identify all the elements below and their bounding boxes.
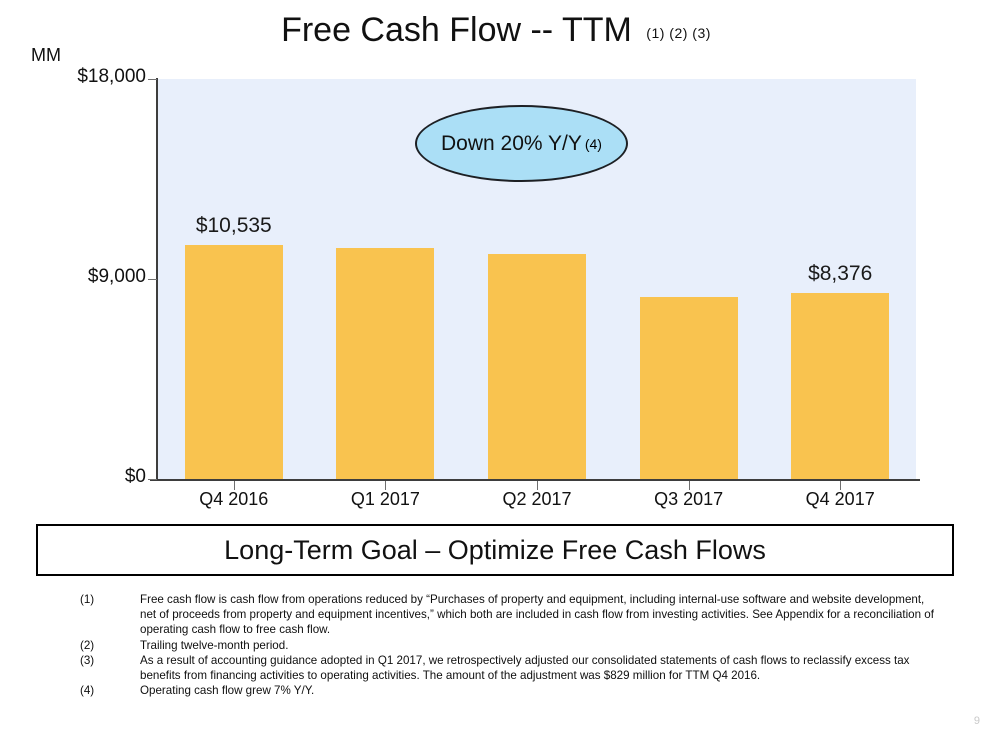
footnote-item: (3)As a result of accounting guidance ad… xyxy=(80,653,940,683)
x-axis-line xyxy=(150,479,920,481)
y-axis-tick-label: $9,000 xyxy=(26,266,146,288)
y-axis-tick-label: $0 xyxy=(26,466,146,488)
footnote-marker: (1) xyxy=(80,592,140,607)
bar xyxy=(336,248,434,479)
bar xyxy=(488,254,586,479)
footnote-item: (1)Free cash flow is cash flow from oper… xyxy=(80,592,940,638)
y-axis-tick xyxy=(148,79,157,80)
bar-value-label: $10,535 xyxy=(154,214,314,238)
callout-superscript: (4) xyxy=(585,136,602,152)
bar xyxy=(791,293,889,479)
footnote-text: Free cash flow is cash flow from operati… xyxy=(140,592,940,638)
footnote-marker: (2) xyxy=(80,638,140,653)
bar-chart: MM $0$9,000$18,000 Q4 2016Q1 2017Q2 2017… xyxy=(0,0,992,520)
goal-banner: Long-Term Goal – Optimize Free Cash Flow… xyxy=(36,524,954,576)
x-axis-category-label: Q3 2017 xyxy=(609,489,769,510)
bar-value-label: $8,376 xyxy=(760,262,920,286)
footnotes-list: (1)Free cash flow is cash flow from oper… xyxy=(80,592,940,698)
y-axis-tick xyxy=(148,479,157,480)
callout-text: Down 20% Y/Y xyxy=(441,132,582,156)
footnote-item: (2)Trailing twelve-month period. xyxy=(80,638,940,653)
y-axis-tick-label: $18,000 xyxy=(26,66,146,88)
x-axis-category-label: Q4 2017 xyxy=(760,489,920,510)
y-axis-labels: $0$9,000$18,000 xyxy=(18,0,146,520)
footnote-text: Operating cash flow grew 7% Y/Y. xyxy=(140,683,940,698)
footnote-text: Trailing twelve-month period. xyxy=(140,638,940,653)
footnote-marker: (3) xyxy=(80,653,140,668)
page-number: 9 xyxy=(974,715,980,727)
callout-bubble: Down 20% Y/Y(4) xyxy=(415,105,628,182)
footnote-item: (4)Operating cash flow grew 7% Y/Y. xyxy=(80,683,940,698)
x-axis-category-label: Q4 2016 xyxy=(154,489,314,510)
bar xyxy=(185,245,283,479)
x-axis-category-label: Q2 2017 xyxy=(457,489,617,510)
footnote-text: As a result of accounting guidance adopt… xyxy=(140,653,940,683)
footnote-marker: (4) xyxy=(80,683,140,698)
x-axis-category-label: Q1 2017 xyxy=(305,489,465,510)
bar xyxy=(640,297,738,479)
goal-banner-text: Long-Term Goal – Optimize Free Cash Flow… xyxy=(224,535,766,566)
y-axis-tick xyxy=(148,279,157,280)
